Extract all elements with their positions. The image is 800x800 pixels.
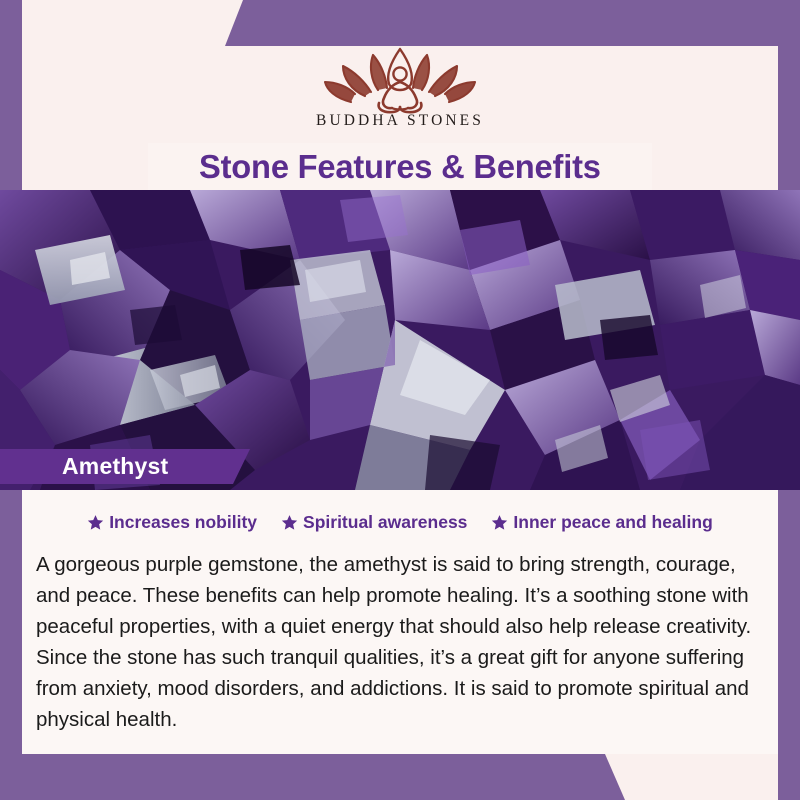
benefit-item: Spiritual awareness	[281, 512, 467, 533]
stone-name-banner: Amethyst	[0, 449, 250, 484]
poster: BUDDHA STONES Stone Features & Benefits	[0, 0, 800, 800]
brand-header: BUDDHA STONES	[22, 46, 778, 142]
amethyst-crystal-illustration	[0, 190, 800, 490]
stone-name-label: Amethyst	[62, 453, 168, 480]
benefit-item: Increases nobility	[87, 512, 257, 533]
page-title: Stone Features & Benefits	[199, 148, 601, 186]
brand-name: BUDDHA STONES	[316, 112, 484, 130]
hero-image-amethyst	[0, 190, 800, 490]
title-bar: Stone Features & Benefits	[148, 143, 652, 190]
frame-border-top	[0, 0, 800, 46]
benefits-list: Increases nobility Spiritual awareness I…	[22, 512, 778, 533]
stone-description: A gorgeous purple gemstone, the amethyst…	[36, 549, 764, 735]
benefit-label: Spiritual awareness	[303, 512, 467, 533]
lotus-meditation-icon	[315, 46, 485, 114]
frame-border-bottom	[0, 754, 800, 800]
content-panel: Increases nobility Spiritual awareness I…	[22, 490, 778, 754]
star-icon	[491, 514, 508, 531]
benefit-label: Inner peace and healing	[513, 512, 712, 533]
star-icon	[281, 514, 298, 531]
star-icon	[87, 514, 104, 531]
benefit-label: Increases nobility	[109, 512, 257, 533]
benefit-item: Inner peace and healing	[491, 512, 712, 533]
